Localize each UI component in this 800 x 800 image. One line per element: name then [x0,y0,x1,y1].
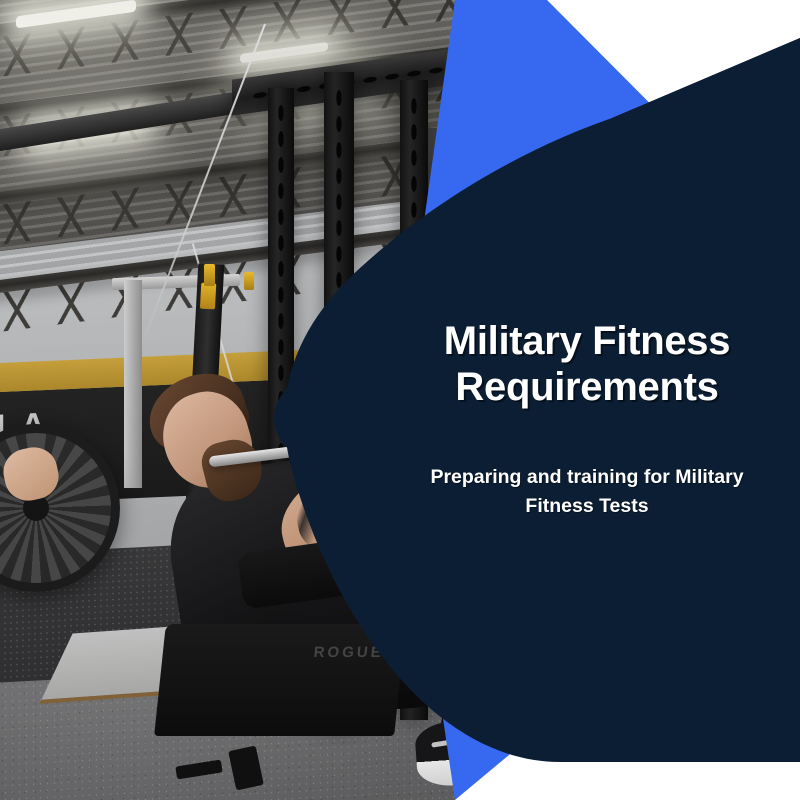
page-title-line-1: Military Fitness [444,319,730,363]
page-title-line-2: Requirements [455,365,718,409]
poster-text-block: Military Fitness Requirements Preparing … [392,318,782,522]
athlete-hand [0,443,63,505]
poster-canvas: LA T SUM [0,0,800,800]
athlete-shoe [414,716,530,788]
page-subtitle: Preparing and training for Military Fitn… [410,463,764,522]
rogue-brand-label: ROGUE [313,644,385,661]
page-title: Military Fitness Requirements [392,318,782,411]
rogue-machine-base: ROGUE [154,624,406,736]
